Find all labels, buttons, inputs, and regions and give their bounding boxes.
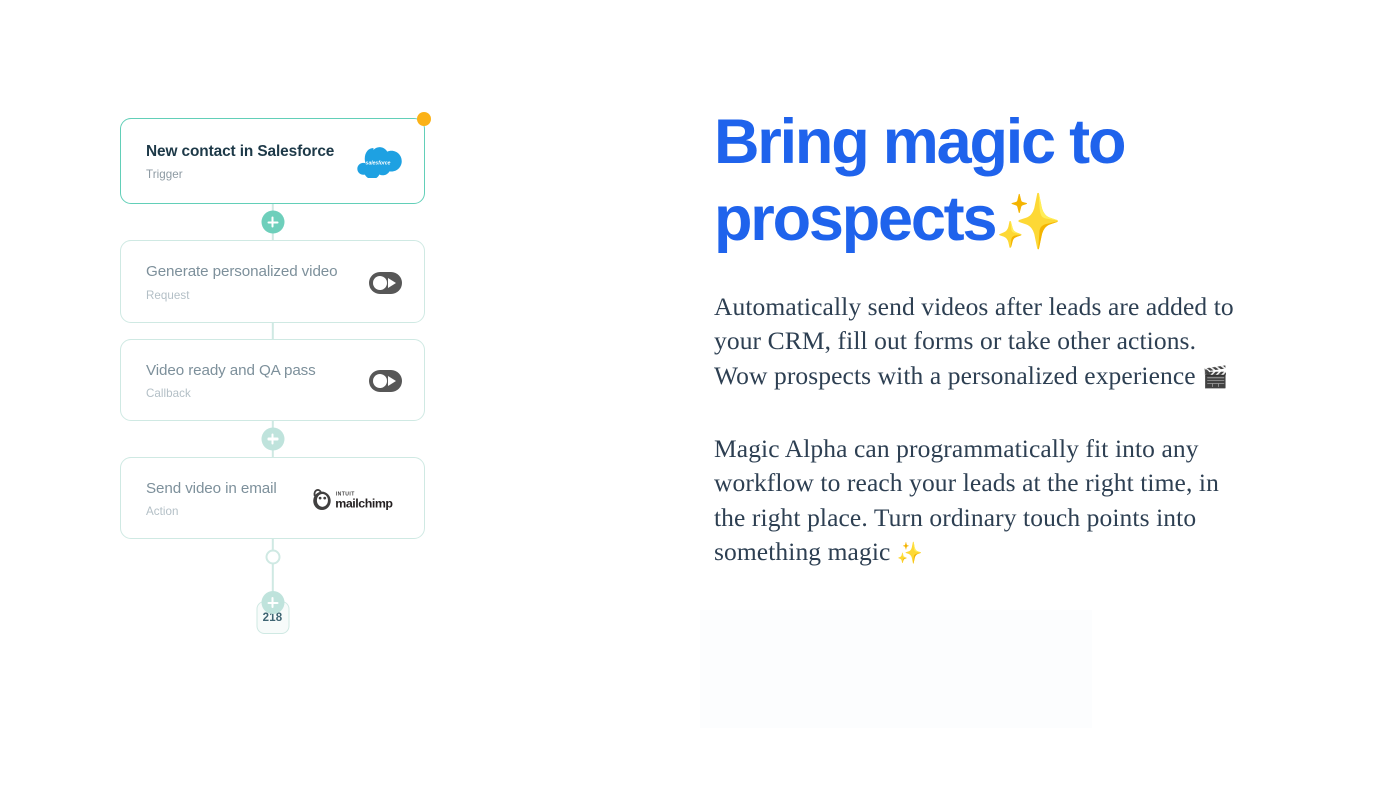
- workflow-endpoint-icon: [265, 550, 280, 565]
- marketing-copy: Bring magic to prospects✨ Automatically …: [714, 104, 1234, 570]
- svg-text:salesforce: salesforce: [366, 161, 391, 167]
- sparkles-icon: ✨: [995, 190, 1062, 253]
- workflow-step-callback[interactable]: Video ready and QA pass Callback: [120, 339, 425, 421]
- workflow-step-subtitle: Trigger: [146, 168, 334, 181]
- toggle-play-icon[interactable]: [369, 370, 402, 392]
- workflow-connector: [120, 323, 425, 339]
- workflow-tail: 218: [120, 539, 425, 643]
- headline-line-1: Bring magic to: [714, 107, 1124, 177]
- headline-line-2: prospects: [714, 184, 995, 254]
- svg-text:mailchimp: mailchimp: [335, 496, 393, 510]
- workflow-step-title: Video ready and QA pass: [146, 362, 316, 380]
- status-dot-icon: [417, 112, 431, 126]
- workflow-diagram: New contact in Salesforce Trigger salesf…: [120, 118, 425, 643]
- body-paragraph-2: Magic Alpha can programmatically fit int…: [714, 432, 1234, 570]
- workflow-step-subtitle: Action: [146, 505, 277, 518]
- body-paragraph-1: Automatically send videos after leads ar…: [714, 290, 1234, 393]
- add-step-button[interactable]: [261, 427, 284, 450]
- workflow-step-text: Video ready and QA pass Callback: [146, 362, 316, 400]
- workflow-step-text: Generate personalized video Request: [146, 263, 338, 301]
- add-step-button[interactable]: [261, 211, 284, 234]
- salesforce-logo: salesforce: [356, 146, 402, 178]
- workflow-step-text: New contact in Salesforce Trigger: [146, 143, 334, 181]
- workflow-step-subtitle: Callback: [146, 387, 316, 400]
- workflow-step-trigger[interactable]: New contact in Salesforce Trigger salesf…: [120, 118, 425, 204]
- clapper-board-icon: 🎬: [1202, 365, 1228, 389]
- mailchimp-logo: INTUIT mailchimp: [310, 487, 402, 511]
- workflow-connector: [120, 421, 425, 457]
- workflow-step-action[interactable]: Send video in email Action INTUIT mailch…: [120, 457, 425, 539]
- workflow-step-subtitle: Request: [146, 289, 338, 302]
- body-paragraph-1-text: Automatically send videos after leads ar…: [714, 292, 1234, 390]
- page-title: Bring magic to prospects✨: [714, 104, 1234, 258]
- body-paragraph-2-text: Magic Alpha can programmatically fit int…: [714, 434, 1219, 566]
- add-step-button[interactable]: [261, 591, 284, 614]
- workflow-step-title: Generate personalized video: [146, 263, 338, 281]
- workflow-step-text: Send video in email Action: [146, 480, 277, 518]
- sparkles-icon: ✨: [897, 541, 923, 565]
- workflow-step-title: Send video in email: [146, 480, 277, 498]
- workflow-step-request[interactable]: Generate personalized video Request: [120, 240, 425, 322]
- workflow-step-title: New contact in Salesforce: [146, 143, 334, 161]
- blank-panel: [700, 610, 1092, 728]
- workflow-connector: [120, 204, 425, 240]
- toggle-play-icon[interactable]: [369, 272, 402, 294]
